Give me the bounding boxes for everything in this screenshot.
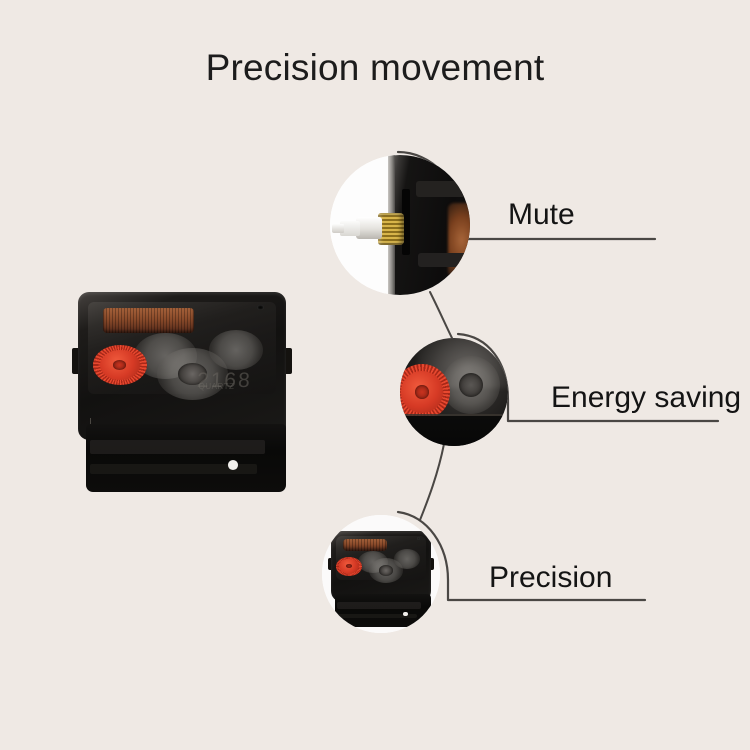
product-image-closeup [331, 531, 431, 627]
callout-circle-precision [322, 515, 440, 633]
movement-base [335, 594, 431, 627]
body-step-upper [416, 181, 470, 197]
callout-circle-mute [330, 155, 470, 295]
gear-grey-right [394, 549, 420, 568]
screw-hole [417, 537, 420, 539]
infographic-canvas: Precision movement 2168 QUARTZ [0, 0, 750, 750]
base-strip [400, 416, 508, 446]
body-step-lower [418, 253, 470, 267]
base-groove-upper [90, 440, 265, 454]
copper-coil [103, 308, 195, 333]
callout-label-mute: Mute [508, 198, 575, 232]
base-groove-upper [337, 602, 421, 609]
page-title: Precision movement [0, 46, 750, 90]
connector-mute-to-energy [430, 292, 452, 338]
brand-sub-marking: QUARTZ [199, 382, 235, 391]
gear-grey-closeup [442, 356, 500, 414]
movement-shell [331, 531, 431, 602]
movement-base [86, 424, 286, 492]
gear-red [336, 557, 362, 576]
callout-label-precision: Precision [489, 561, 612, 595]
product-image-main: 2168 QUARTZ [78, 292, 286, 492]
base-indicator-dot [228, 460, 238, 470]
callout-circle-energy-saving [400, 338, 508, 446]
gear-red [93, 345, 147, 385]
screw-hole [257, 305, 264, 310]
callout-label-energy-saving: Energy saving [551, 381, 741, 415]
connector-energy-to-precision [420, 444, 444, 520]
shaft-tip [332, 224, 344, 233]
copper-coil [343, 539, 387, 551]
